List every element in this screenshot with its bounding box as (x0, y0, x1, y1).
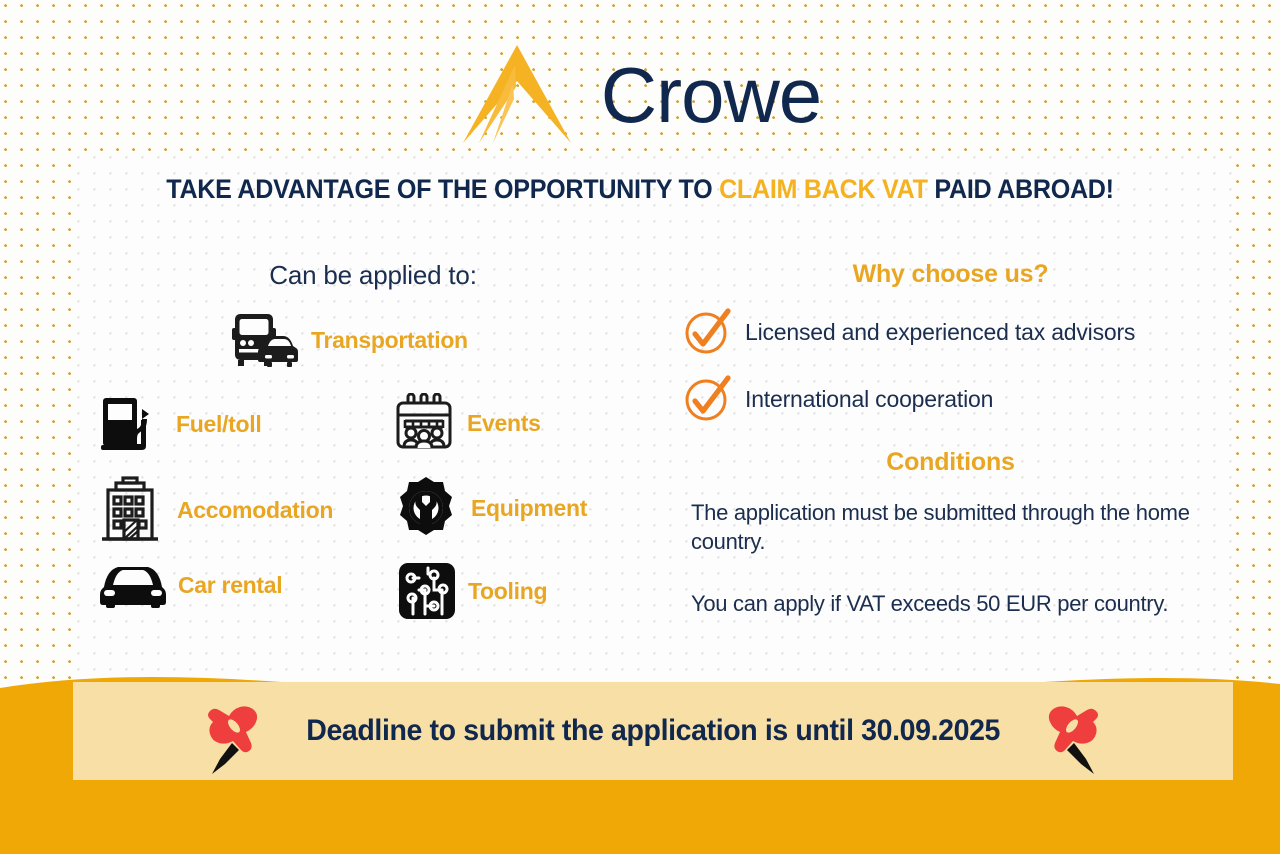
why-list-item: International cooperation (683, 375, 993, 423)
fuel-pump-icon (100, 393, 164, 455)
category-label: Car rental (178, 572, 282, 599)
calendar-people-icon (393, 393, 455, 453)
category-label: Events (467, 410, 541, 437)
applied-to-column: Can be applied to: (73, 250, 683, 650)
circuit-board-icon (398, 562, 456, 620)
category-item-tooling: Tooling (398, 562, 547, 620)
category-label: Equipment (471, 495, 587, 522)
headline-part2: PAID ABROAD! (928, 174, 1114, 204)
poster-canvas: Crowe TAKE ADVANTAGE OF THE OPPORTUNITY … (0, 0, 1280, 854)
headline-accent: CLAIM BACK VAT (719, 174, 928, 204)
category-item-fuel-toll: Fuel/toll (100, 393, 261, 455)
applied-to-heading: Can be applied to: (73, 260, 673, 291)
why-list-item-label: International cooperation (745, 386, 993, 413)
deadline-text: Deadline to submit the application is un… (306, 714, 1000, 748)
headline-part1: TAKE ADVANTAGE OF THE OPPORTUNITY TO (166, 174, 719, 204)
why-list-item-label: Licensed and experienced tax advisors (745, 319, 1135, 346)
why-choose-heading: Why choose us? (673, 260, 1228, 289)
gear-wrench-icon (393, 476, 459, 540)
category-item-events: Events (393, 393, 541, 453)
pushpin-icon (1028, 688, 1114, 774)
office-building-icon (95, 476, 165, 544)
crowe-triangle-icon (459, 43, 575, 147)
condition-paragraph: You can apply if VAT exceeds 50 EUR per … (691, 589, 1221, 618)
page-headline: TAKE ADVANTAGE OF THE OPPORTUNITY TO CLA… (45, 174, 1235, 205)
category-item-equipment: Equipment (393, 476, 587, 540)
conditions-heading: Conditions (673, 448, 1228, 477)
conditions-body: The application must be submitted throug… (691, 498, 1221, 618)
condition-paragraph: The application must be submitted throug… (691, 498, 1221, 557)
deadline-banner: Deadline to submit the application is un… (73, 682, 1233, 780)
category-label: Transportation (311, 327, 468, 354)
check-circle-icon (683, 375, 731, 423)
brand-logo: Crowe (0, 36, 1280, 154)
category-label: Accomodation (177, 497, 333, 524)
pushpin-icon (192, 688, 278, 774)
why-choose-column: Why choose us? Licensed and experienced … (673, 250, 1233, 650)
deadline-inner: Deadline to submit the application is un… (192, 688, 1114, 774)
category-item-accomodation: Accomodation (95, 476, 333, 544)
bus-and-car-icon (231, 310, 299, 370)
check-circle-icon (683, 308, 731, 356)
brand-wordmark: Crowe (601, 56, 821, 134)
category-label: Fuel/toll (176, 411, 261, 438)
car-front-icon (100, 562, 166, 608)
body-columns: Can be applied to: (73, 250, 1233, 650)
category-item-car-rental: Car rental (100, 562, 282, 608)
category-item-transportation: Transportation (231, 310, 468, 370)
why-list-item: Licensed and experienced tax advisors (683, 308, 1135, 356)
category-label: Tooling (468, 578, 547, 605)
